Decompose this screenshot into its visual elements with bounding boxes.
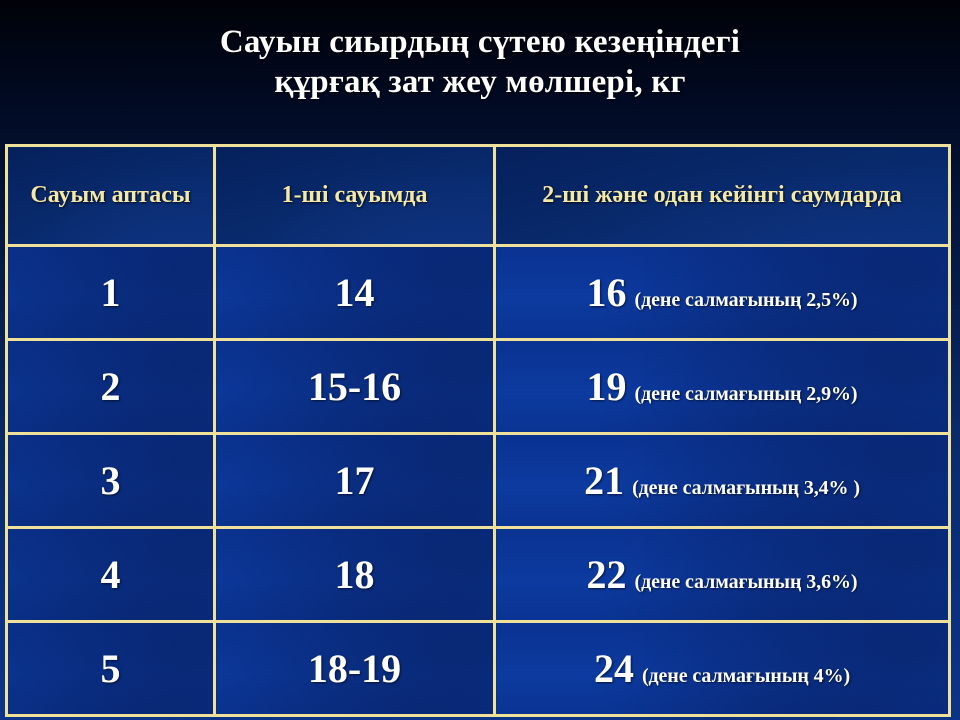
cell-later-note: (дене салмағының 3,6%)	[635, 572, 858, 592]
cell-later-note: (дене салмағының 3,4% )	[632, 478, 860, 498]
cell-later-note: (дене салмағының 2,9%)	[635, 384, 858, 404]
column-header-later-milkings: 2-ші және одан кейінгі саумдарда	[495, 146, 950, 246]
cell-first-milking: 14	[215, 246, 495, 340]
cell-first-milking: 18	[215, 528, 495, 622]
cell-later-milkings: 16 (дене салмағының 2,5%)	[495, 246, 950, 340]
cell-later-value: 16	[587, 273, 627, 313]
cell-later-milkings: 21 (дене салмағының 3,4% )	[495, 434, 950, 528]
table-row: 4 18 22 (дене салмағының 3,6%)	[7, 528, 950, 622]
table-row: 5 18-19 24 (дене салмағының 4%)	[7, 622, 950, 716]
dry-matter-intake-table: Сауым аптасы 1-ші сауымда 2-ші және одан…	[5, 144, 951, 717]
table-header-row: Сауым аптасы 1-ші сауымда 2-ші және одан…	[7, 146, 950, 246]
cell-week: 5	[7, 622, 215, 716]
column-header-first-milking: 1-ші сауымда	[215, 146, 495, 246]
cell-week: 1	[7, 246, 215, 340]
cell-week: 3	[7, 434, 215, 528]
cell-later-note: (дене салмағының 2,5%)	[635, 290, 858, 310]
slide-title-line-1: Сауын сиырдың сүтею кезеңіндегі	[0, 22, 960, 62]
cell-later-milkings: 24 (дене салмағының 4%)	[495, 622, 950, 716]
table-row: 1 14 16 (дене салмағының 2,5%)	[7, 246, 950, 340]
cell-later-value: 21	[584, 461, 624, 501]
column-header-week: Сауым аптасы	[7, 146, 215, 246]
table-row: 2 15-16 19 (дене салмағының 2,9%)	[7, 340, 950, 434]
cell-first-milking: 15-16	[215, 340, 495, 434]
table-row: 3 17 21 (дене салмағының 3,4% )	[7, 434, 950, 528]
cell-later-note: (дене салмағының 4%)	[642, 666, 850, 686]
cell-later-milkings: 19 (дене салмағының 2,9%)	[495, 340, 950, 434]
slide-title-line-2: құрғақ зат жеу мөлшері, кг	[0, 62, 960, 102]
cell-week: 2	[7, 340, 215, 434]
cell-first-milking: 18-19	[215, 622, 495, 716]
cell-later-value: 24	[594, 649, 634, 689]
cell-later-milkings: 22 (дене салмағының 3,6%)	[495, 528, 950, 622]
data-table-container: Сауым аптасы 1-ші сауымда 2-ші және одан…	[5, 144, 948, 717]
cell-first-milking: 17	[215, 434, 495, 528]
cell-week: 4	[7, 528, 215, 622]
slide-canvas: Сауын сиырдың сүтею кезеңіндегі құрғақ з…	[0, 0, 960, 720]
cell-later-value: 22	[587, 555, 627, 595]
cell-later-value: 19	[587, 367, 627, 407]
slide-title: Сауын сиырдың сүтею кезеңіндегі құрғақ з…	[0, 22, 960, 103]
